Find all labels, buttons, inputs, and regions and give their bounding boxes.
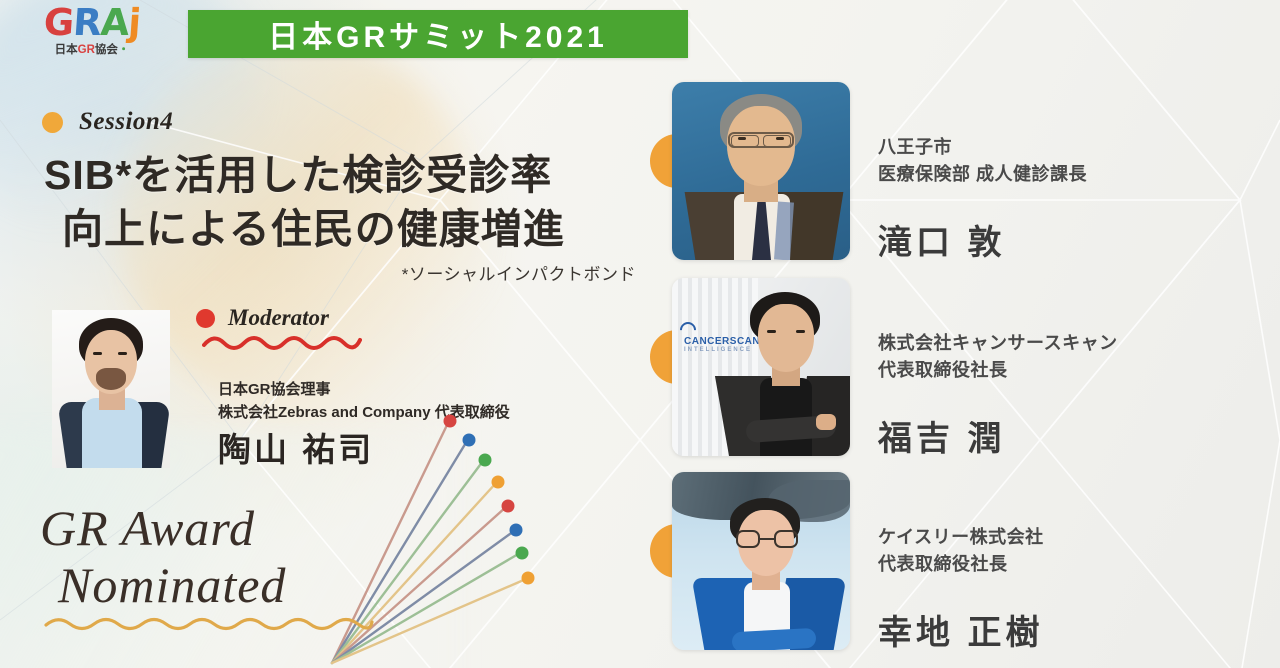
moderator-name: 陶山 祐司 — [218, 423, 374, 471]
speaker-card-3: ケイスリー株式会社 代表取締役社長 幸地 正樹 — [650, 472, 1280, 660]
speaker-3-photo — [672, 472, 850, 650]
moderator-role-line2: 株式会社Zebras and Company 代表取締役 — [218, 402, 510, 425]
moderator-role-line1: 日本GR協会理事 — [218, 379, 510, 402]
speaker-1-org-line2: 医療保険部 成人健診課長 — [878, 161, 1087, 188]
session-label-row: Session4 — [42, 108, 173, 136]
slide-canvas: GRAj 日本GR協会・ 日本GRサミット2021 Session4 SIB*を… — [0, 0, 1280, 668]
speaker-1-org-line1: 八王子市 — [878, 134, 1087, 161]
moderator-label: Moderator — [228, 305, 329, 331]
logo-subtitle: 日本GR協会・ — [28, 45, 156, 57]
moderator-block: Moderator 日本GR協会理事 株式会社Zebras and Compan… — [52, 305, 612, 470]
speaker-1-photo — [672, 82, 850, 260]
speaker-2-org-line1: 株式会社キャンサースキャン — [878, 330, 1118, 357]
session-title-line1: SIB*を活用した検診受診率 — [44, 148, 664, 202]
speaker-2-photo: CANCERSCANINTELLIGENCE — [672, 278, 850, 456]
moderator-tag: Moderator — [196, 305, 329, 331]
speaker-3-info: ケイスリー株式会社 代表取締役社長 幸地 正樹 — [878, 472, 1044, 654]
logo-sub-dot: ・ — [118, 44, 130, 56]
logo-letter-g: G — [42, 1, 74, 44]
logo-wordmark: GRAj — [27, 4, 158, 41]
logo-letter-a: A — [99, 1, 130, 44]
graj-logo: GRAj 日本GR協会・ — [28, 4, 156, 70]
summit-title-text: 日本GRサミット2021 — [268, 12, 608, 56]
speaker-2-name: 福吉 潤 — [878, 411, 1118, 460]
speaker-3-name: 幸地 正樹 — [878, 605, 1044, 654]
speaker-3-org-line2: 代表取締役社長 — [878, 551, 1044, 578]
gr-award-block: GR Award Nominated — [40, 502, 400, 636]
session-title-block: SIB*を活用した検診受診率 向上による住民の健康増進 *ソーシャルインパクトボ… — [44, 148, 664, 285]
moderator-dot-icon — [196, 309, 215, 328]
award-wave-underline — [44, 613, 374, 631]
logo-letter-r: R — [72, 1, 103, 44]
speaker-3-org-line1: ケイスリー株式会社 — [878, 524, 1044, 551]
logo-sub-gr: GR — [78, 44, 95, 56]
logo-sub-assoc: 協会 — [95, 44, 118, 56]
session-title-footnote: *ソーシャルインパクトボンド — [44, 260, 664, 285]
cancerscan-logo-sub: INTELLIGENCE — [684, 347, 760, 353]
speaker-2-org-line2: 代表取締役社長 — [878, 357, 1118, 384]
award-line1: GR Award — [40, 502, 400, 555]
logo-sub-jp: 日本 — [55, 44, 78, 56]
speaker-1-name: 滝口 敦 — [878, 215, 1087, 264]
speaker-2-org: 株式会社キャンサースキャン 代表取締役社長 — [878, 330, 1118, 385]
summit-title-banner: 日本GRサミット2021 — [188, 10, 688, 58]
speaker-1-org: 八王子市 医療保険部 成人健診課長 — [878, 134, 1087, 189]
speaker-1-info: 八王子市 医療保険部 成人健診課長 滝口 敦 — [878, 82, 1087, 264]
cancerscan-logo-text: CANCERSCAN — [684, 336, 760, 347]
speaker-3-org: ケイスリー株式会社 代表取締役社長 — [878, 524, 1044, 579]
session-title-line2: 向上による住民の健康増進 — [44, 202, 664, 256]
session-label: Session4 — [79, 108, 173, 136]
session-dot-icon — [42, 112, 63, 133]
moderator-photo — [52, 310, 170, 468]
cancerscan-logo: CANCERSCANINTELLIGENCE — [684, 336, 760, 353]
speaker-card-2: CANCERSCANINTELLIGENCE 株式会社キャンサースキャン 代表取… — [650, 278, 1280, 466]
logo-letter-j: j — [127, 1, 142, 44]
award-line2: Nominated — [40, 559, 400, 612]
moderator-wave-underline — [202, 331, 362, 351]
speaker-card-1: 八王子市 医療保険部 成人健診課長 滝口 敦 — [650, 82, 1280, 270]
speaker-2-info: 株式会社キャンサースキャン 代表取締役社長 福吉 潤 — [878, 278, 1118, 460]
moderator-role: 日本GR協会理事 株式会社Zebras and Company 代表取締役 — [218, 379, 510, 424]
